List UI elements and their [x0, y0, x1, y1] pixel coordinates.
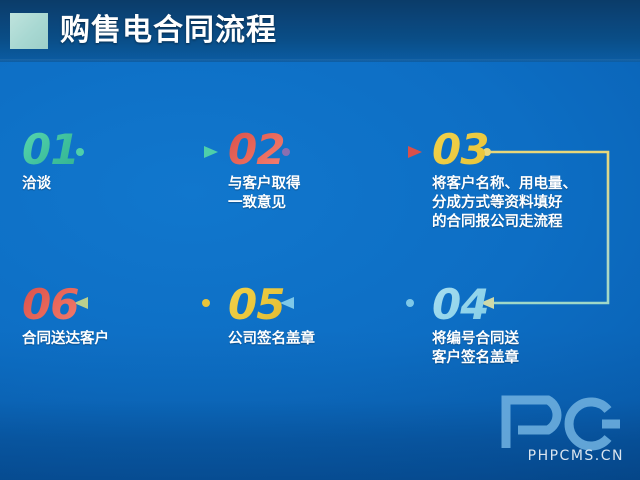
step-03[interactable]: 03 将客户名称、用电量、 分成方式等资料填好 的合同报公司走流程 — [432, 128, 577, 232]
connector-02-03 — [282, 146, 422, 158]
step-06[interactable]: 06 合同送达客户 — [22, 283, 109, 349]
step-03-number: 03 — [432, 128, 577, 172]
watermark-caption: PHPCMS.CN — [528, 448, 624, 464]
step-02[interactable]: 02 与客户取得 一致意见 — [228, 128, 301, 213]
step-04[interactable]: 04 将编号合同送 客户签名盖章 — [432, 283, 519, 368]
step-03-label: 将客户名称、用电量、 分成方式等资料填好 的合同报公司走流程 — [432, 175, 577, 232]
step-06-label: 合同送达客户 — [22, 330, 109, 349]
step-01-number: 01 — [22, 128, 78, 172]
slide-canvas: 购售电合同流程 — [0, 0, 640, 480]
step-01-label: 洽谈 — [22, 175, 78, 194]
step-05-label: 公司签名盖章 — [228, 330, 315, 349]
connector-01-02 — [76, 146, 218, 158]
step-02-label: 与客户取得 一致意见 — [228, 175, 301, 213]
step-02-number: 02 — [228, 128, 301, 172]
step-05-number: 05 — [228, 283, 315, 327]
step-04-label: 将编号合同送 客户签名盖章 — [432, 330, 519, 368]
step-05[interactable]: 05 公司签名盖章 — [228, 283, 315, 349]
step-04-number: 04 — [432, 283, 519, 327]
step-06-number: 06 — [22, 283, 109, 327]
step-01[interactable]: 01 洽谈 — [22, 128, 78, 194]
